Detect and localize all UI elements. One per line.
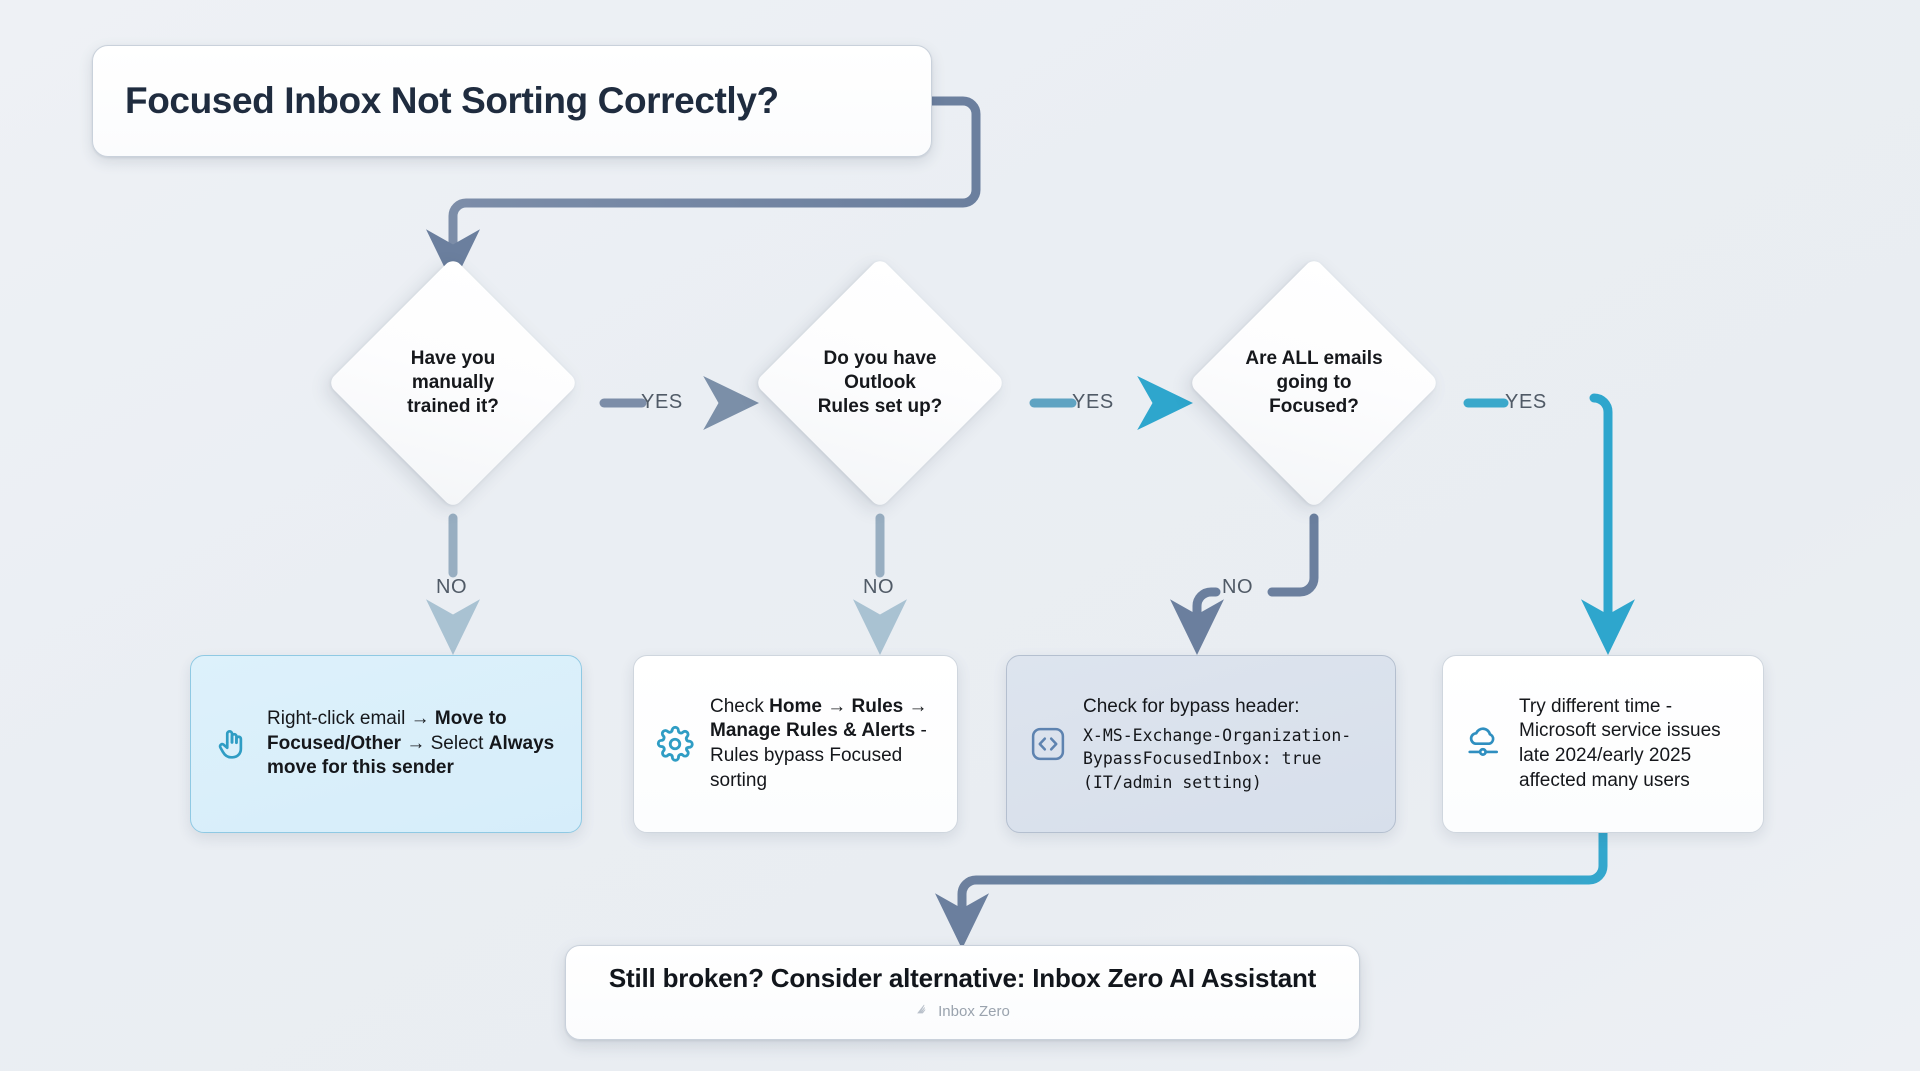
footer-brand: Inbox Zero (915, 1001, 1010, 1022)
result-card-outlook-rules[interactable]: Check Home → Rules → Manage Rules & Aler… (633, 655, 958, 833)
decision-line-3: trained it? (407, 395, 499, 419)
decision-line-1: Are ALL emails (1245, 347, 1382, 371)
decision-do-you-have-outlook-rules[interactable]: Do you have Outlook Rules set up? (732, 283, 1028, 483)
card-seg: → Select (401, 733, 489, 754)
hand-pointer-icon (213, 725, 251, 763)
card-text: Check Home → Rules → Manage Rules & Aler… (710, 695, 935, 794)
edge-label-d2-no: NO (863, 576, 894, 599)
card-seg: Right-click email → (267, 708, 435, 729)
decision-are-all-emails-going-to-focused[interactable]: Are ALL emails going to Focused? (1166, 283, 1462, 483)
card-heading: Check for bypass header: (1083, 694, 1373, 721)
result-card-bypass-header[interactable]: Check for bypass header: X-MS-Exchange-O… (1006, 655, 1396, 833)
decision-line-1: Have you (411, 347, 495, 371)
cloud-network-icon (1465, 725, 1503, 763)
card-code: X-MS-Exchange-Organization-BypassFocused… (1083, 726, 1351, 792)
gear-icon (656, 725, 694, 763)
decision-line-3: Focused? (1269, 395, 1359, 419)
flowchart-canvas: Focused Inbox Not Sorting Correctly? Hav… (0, 0, 1920, 1071)
decision-have-you-manually-trained-it[interactable]: Have you manually trained it? (305, 283, 601, 483)
wire-merge-to-footer (962, 833, 1603, 922)
wire-d3-yes (1594, 398, 1608, 628)
edge-label-d2-yes: YES (1072, 391, 1114, 414)
wire-d3-no-arrow (1197, 592, 1216, 628)
edge-label-d1-yes: YES (641, 391, 683, 414)
code-icon (1029, 725, 1067, 763)
result-card-manual-training[interactable]: Right-click email → Move to Focused/Othe… (190, 655, 582, 833)
decision-label: Do you have Outlook Rules set up? (732, 283, 1028, 483)
card-text: Try different time - Microsoft service i… (1519, 695, 1741, 794)
decision-label: Are ALL emails going to Focused? (1166, 283, 1462, 483)
card-text: Check for bypass header: X-MS-Exchange-O… (1083, 694, 1373, 794)
edge-label-d1-no: NO (436, 576, 467, 599)
result-card-service-issues[interactable]: Try different time - Microsoft service i… (1442, 655, 1764, 833)
decision-line-1: Do you have (824, 347, 937, 371)
edge-label-d3-yes: YES (1505, 391, 1547, 414)
connector-layer (0, 0, 1920, 1071)
footer-brand-label: Inbox Zero (938, 1003, 1010, 1020)
edge-label-d3-no: NO (1222, 576, 1253, 599)
title-box: Focused Inbox Not Sorting Correctly? (92, 45, 932, 157)
page-title: Focused Inbox Not Sorting Correctly? (125, 80, 779, 122)
card-seg: Check (710, 696, 769, 717)
decision-label: Have you manually trained it? (305, 283, 601, 483)
footer-cta-box[interactable]: Still broken? Consider alternative: Inbo… (565, 945, 1360, 1040)
card-text: Right-click email → Move to Focused/Othe… (267, 707, 559, 781)
decision-line-2: manually (412, 371, 494, 395)
inbox-zero-logo-icon (915, 1001, 932, 1022)
decision-line-3: Rules set up? (818, 395, 943, 419)
decision-line-2: going to (1277, 371, 1352, 395)
wire-d3-no (1272, 518, 1314, 592)
footer-title: Still broken? Consider alternative: Inbo… (609, 963, 1316, 994)
decision-line-2: Outlook (844, 371, 916, 395)
